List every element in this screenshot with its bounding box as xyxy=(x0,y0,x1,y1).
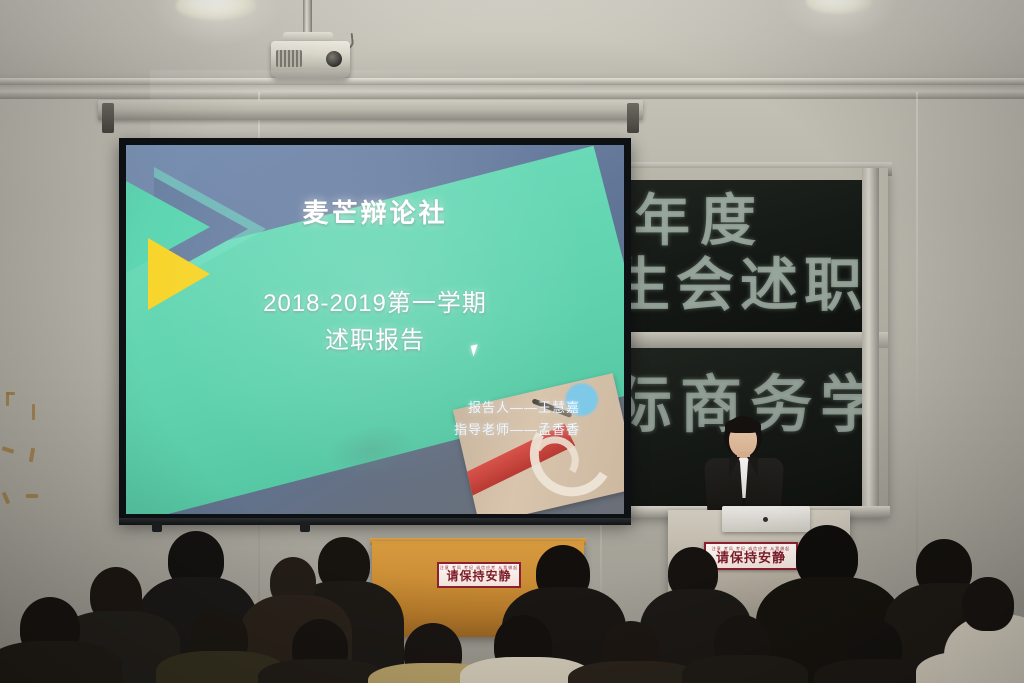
wall-mark xyxy=(6,392,9,406)
screen-housing xyxy=(98,100,643,120)
projection-screen: 麦芒辩论社 2018-2019第一学期 述职报告 报告人——王慧嘉 指导老师——… xyxy=(119,138,631,521)
wall-seam xyxy=(600,525,602,683)
wooden-lectern xyxy=(372,541,584,637)
wall-mark xyxy=(26,494,38,498)
slide-credit-advisor: 指导老师——孟香香 xyxy=(454,419,580,438)
screen-weight-right xyxy=(300,523,310,532)
screen-bracket-left xyxy=(102,103,114,133)
slide-credit-presenter: 报告人——王慧嘉 xyxy=(468,397,580,416)
screen-bottom-bar xyxy=(119,518,631,525)
wall-rail xyxy=(0,85,1024,99)
laptop-logo-icon xyxy=(763,517,768,522)
presenter-collar-left xyxy=(729,457,740,477)
podium-quiet-sign: 注意 考风 考纪 诚信应考 从我做起 请保持安静 xyxy=(704,542,798,570)
blackboard-divider xyxy=(620,332,888,348)
screen-bracket-right xyxy=(627,103,639,133)
slide-title: 麦芒辩论社 xyxy=(126,193,624,230)
slide-subtitle-line2: 述职报告 xyxy=(126,320,624,355)
presenter-hair-front xyxy=(725,418,761,433)
ceiling-light xyxy=(806,0,872,14)
projector-lens xyxy=(326,51,342,67)
ceiling-edge xyxy=(0,78,1024,85)
podium-sign-text: 请保持安静 xyxy=(716,551,786,565)
lectern-quiet-sign: 注意 考风 考纪 诚信应考 从我做起 请保持安静 xyxy=(437,562,521,588)
projector-pole xyxy=(303,0,312,36)
wall-mark xyxy=(32,404,35,420)
presenter-collar-right xyxy=(747,457,758,477)
blackboard-text-line2: 生会述职大会 xyxy=(626,238,878,322)
wall-seam xyxy=(916,92,918,683)
blackboard-panel-top: 年度 生会述职大会 xyxy=(626,180,878,332)
blackboard-side-rail xyxy=(862,168,879,516)
lecture-hall-photo: 年度 生会述职大会 际商务学院 注意 考风 考纪 诚信应考 从我做起 请保持安静… xyxy=(0,0,1024,683)
ceiling-light xyxy=(176,0,256,20)
screen-weight-left xyxy=(152,523,162,532)
slide-subtitle-line1: 2018-2019第一学期 xyxy=(126,283,624,318)
slide-canvas: 麦芒辩论社 2018-2019第一学期 述职报告 报告人——王慧嘉 指导老师——… xyxy=(126,145,624,514)
projector-body xyxy=(271,41,350,78)
projector-vent xyxy=(276,50,302,67)
lectern-sign-text: 请保持安静 xyxy=(446,570,511,583)
